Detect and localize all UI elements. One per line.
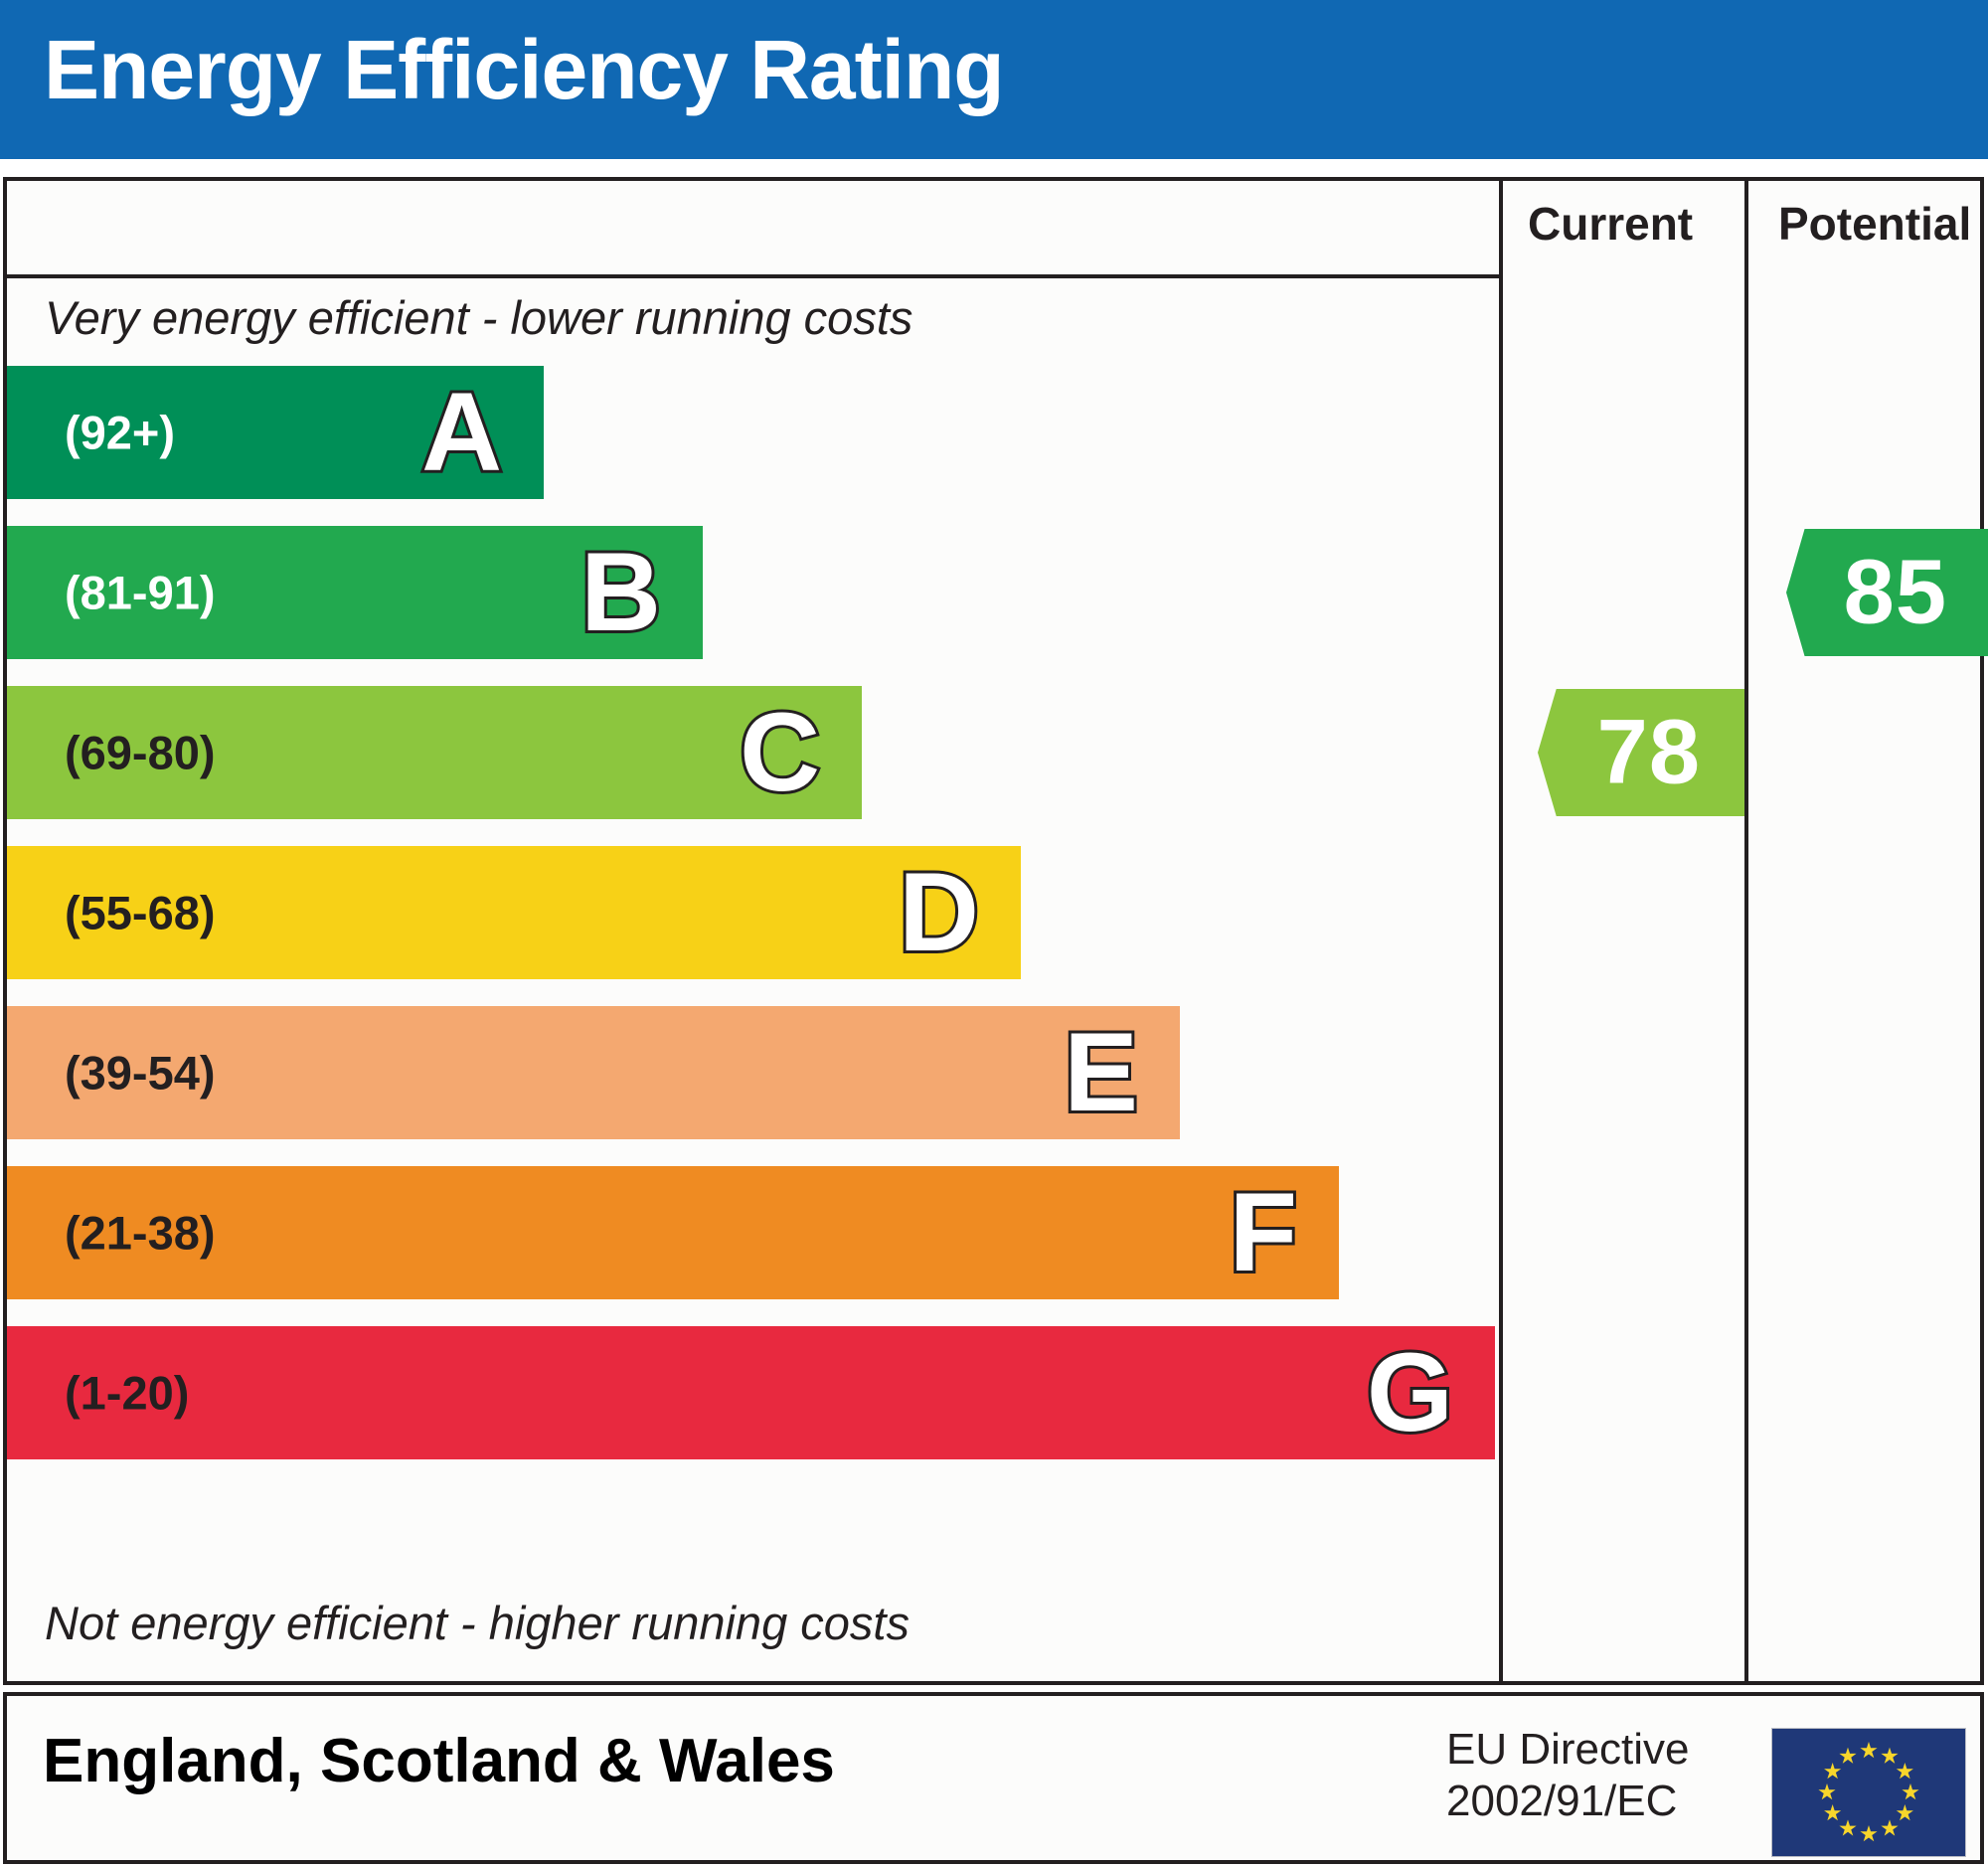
band-letter-a: A — [421, 385, 502, 480]
band-range-c: (69-80) — [65, 726, 216, 780]
band-letter-g: G — [1367, 1345, 1453, 1441]
eu-stars-icon — [1772, 1729, 1965, 1856]
band-range-a: (92+) — [65, 406, 175, 460]
directive-line-1: EU Directive — [1446, 1724, 1690, 1776]
band-letter-f: F — [1230, 1185, 1297, 1280]
band-letter-d: D — [899, 865, 979, 960]
potential-rating-value: 85 — [1844, 541, 1947, 645]
directive-line-2: 2002/91/EC — [1446, 1776, 1690, 1827]
caption-efficient: Very energy efficient - lower running co… — [45, 290, 912, 345]
band-row-b: (81-91)B — [7, 526, 703, 659]
band-range-g: (1-20) — [65, 1366, 189, 1421]
title-bar: Energy Efficiency Rating — [0, 0, 1988, 159]
page-title: Energy Efficiency Rating — [44, 22, 1004, 118]
current-rating-badge: 78 — [1538, 689, 1744, 816]
band-chart: Very energy efficient - lower running co… — [7, 278, 1499, 1681]
band-letter-e: E — [1064, 1025, 1138, 1120]
band-range-e: (39-54) — [65, 1046, 216, 1101]
eu-flag-icon — [1771, 1728, 1966, 1857]
energy-efficiency-certificate: Energy Efficiency Rating Current Potenti… — [0, 0, 1988, 1867]
band-row-f: (21-38)F — [7, 1166, 1339, 1299]
band-letter-b: B — [580, 545, 661, 640]
band-range-f: (21-38) — [65, 1206, 216, 1261]
footer-directive: EU Directive 2002/91/EC — [1446, 1724, 1690, 1827]
band-row-c: (69-80)C — [7, 686, 862, 819]
rating-table: Current Potential Very energy efficient … — [3, 177, 1984, 1685]
column-header-potential: Potential — [1778, 197, 1971, 251]
band-row-e: (39-54)E — [7, 1006, 1180, 1139]
caption-not-efficient: Not energy efficient - higher running co… — [45, 1596, 910, 1650]
band-range-d: (55-68) — [65, 886, 216, 940]
column-header-current: Current — [1528, 197, 1693, 251]
current-column-divider — [1499, 181, 1503, 1681]
footer-region-label: England, Scotland & Wales — [43, 1726, 835, 1796]
potential-column-divider — [1744, 181, 1748, 1681]
band-row-a: (92+)A — [7, 366, 544, 499]
band-row-d: (55-68)D — [7, 846, 1021, 979]
band-row-g: (1-20)G — [7, 1326, 1495, 1459]
potential-rating-badge: 85 — [1786, 529, 1988, 656]
current-rating-value: 78 — [1597, 701, 1701, 805]
footer: England, Scotland & Wales EU Directive 2… — [3, 1692, 1984, 1864]
band-letter-c: C — [740, 705, 820, 800]
band-range-b: (81-91) — [65, 566, 216, 620]
